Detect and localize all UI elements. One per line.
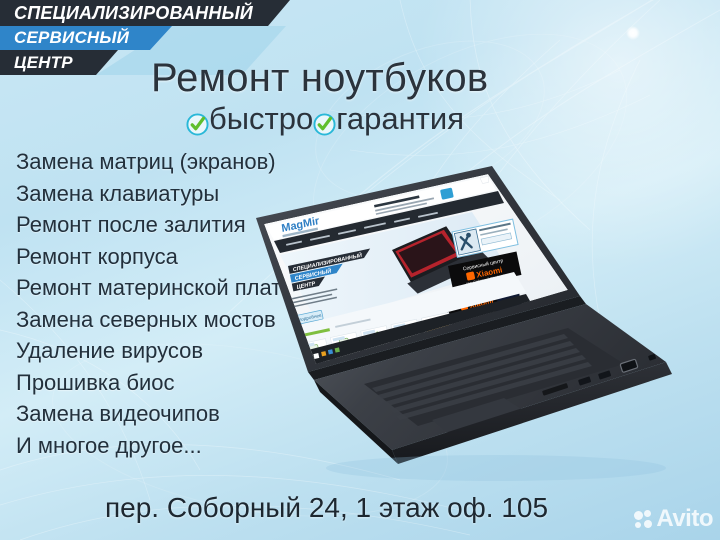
avito-wordmark: Avito: [656, 507, 713, 531]
ribbon-service-label: СЕРВИСНЫЙ: [14, 28, 129, 48]
avito-watermark: Avito: [634, 507, 713, 531]
green-check-circle-icon: [186, 108, 209, 131]
ribbon-specialized: СПЕЦИАЛИЗИРОВАННЫЙ: [0, 0, 290, 26]
avito-dots-logo-icon: [634, 510, 653, 529]
poster-benefits: быстро гарантия: [186, 101, 464, 137]
laptop-illustration: MagMir: [196, 158, 696, 488]
ribbon-center-label: ЦЕНТР: [14, 53, 73, 73]
green-check-circle-icon: [313, 108, 336, 131]
benefit-fast-label: быстро: [209, 101, 313, 137]
benefit-warranty-label: гарантия: [336, 101, 464, 137]
address-text: пер. Соборный 24, 1 этаж оф. 105: [105, 492, 548, 524]
advertisement-poster: СПЕЦИАЛИЗИРОВАННЫЙ СЕРВИСНЫЙ ЦЕНТР Ремон…: [0, 0, 720, 540]
ribbon-specialized-label: СПЕЦИАЛИЗИРОВАННЫЙ: [14, 3, 253, 24]
light-flare-dot: [626, 26, 640, 40]
ribbon-center: ЦЕНТР: [0, 50, 118, 75]
poster-headline: Ремонт ноутбуков: [151, 56, 488, 101]
ribbon-service: СЕРВИСНЫЙ: [0, 26, 172, 50]
